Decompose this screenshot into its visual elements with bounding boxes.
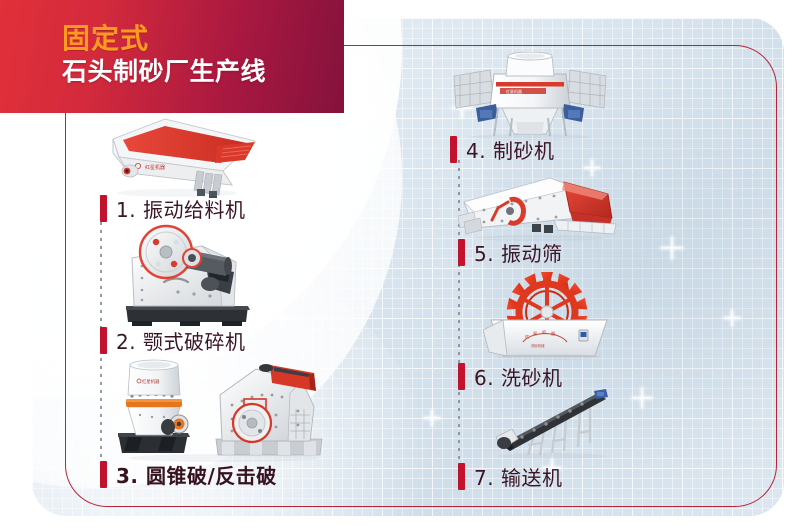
svg-text:·: · — [559, 334, 560, 339]
machine-sand-washing-machine: 红星机 器· 洗砂机械 — [483, 268, 615, 364]
svg-text:红星机器: 红星机器 — [142, 378, 160, 385]
label-accent-bar — [100, 327, 107, 354]
label-accent-bar — [100, 461, 107, 488]
label-accent-bar — [458, 463, 465, 490]
label-accent-bar — [100, 195, 107, 222]
svg-text:红星机器: 红星机器 — [145, 164, 165, 171]
label-item-1: 1. 振动给料机 — [100, 194, 245, 223]
label-text: 1. 振动给料机 — [116, 194, 245, 223]
machine-vibrating-screen — [458, 172, 623, 248]
label-text: 4. 制砂机 — [466, 135, 554, 164]
banner-headline-secondary: 石头制砂厂生产线 — [62, 57, 266, 87]
label-text: 7. 输送机 — [474, 462, 562, 491]
label-text: 2. 颚式破碎机 — [116, 326, 245, 355]
label-item-7: 7. 输送机 — [458, 462, 562, 491]
label-item-6: 6. 洗砂机 — [458, 362, 562, 391]
label-item-3: 3. 圆锥破/反击破 — [100, 460, 277, 489]
label-accent-bar — [458, 363, 465, 390]
label-item-5: 5. 振动筛 — [458, 238, 562, 267]
svg-text:洗砂机械: 洗砂机械 — [531, 343, 545, 348]
label-text: 5. 振动筛 — [474, 238, 562, 267]
title-banner-text-group: 固定式 石头制砂厂生产线 — [62, 22, 266, 87]
label-text: 3. 圆锥破/反击破 — [116, 460, 277, 489]
svg-text:红: 红 — [525, 333, 529, 339]
label-accent-bar — [450, 136, 457, 163]
machine-sand-making-machine: 红星机器 — [450, 52, 610, 144]
banner-headline-primary: 固定式 — [62, 22, 266, 55]
svg-text:红星机器: 红星机器 — [506, 88, 522, 94]
machine-belt-conveyor — [488, 385, 620, 464]
label-item-2: 2. 颚式破碎机 — [100, 326, 245, 355]
machine-jaw-crusher — [118, 222, 268, 336]
label-accent-bar — [458, 239, 465, 266]
label-text: 6. 洗砂机 — [474, 362, 562, 391]
title-banner: 固定式 石头制砂厂生产线 — [0, 0, 344, 113]
label-item-4: 4. 制砂机 — [450, 135, 554, 164]
machine-cone-and-impact-crusher: 红星机器 — [112, 355, 337, 467]
svg-text:星: 星 — [533, 331, 537, 336]
infographic-canvas: 红星机器 1. 振动给料机 — [0, 0, 800, 530]
machine-vibrating-feeder: 红星机器 — [105, 113, 270, 202]
